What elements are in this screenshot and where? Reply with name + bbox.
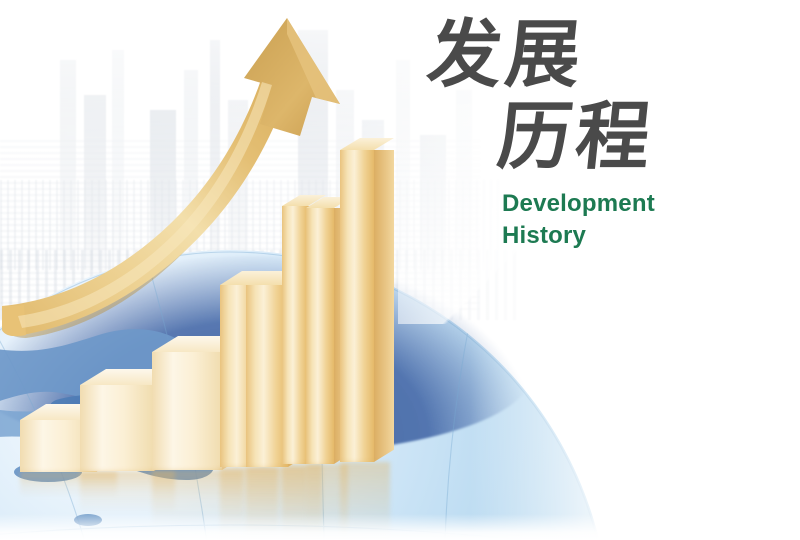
- title-en-line2: History: [502, 220, 750, 252]
- title-cn-line1: 发展: [424, 18, 754, 92]
- bar-2: [80, 385, 154, 471]
- bar-7: [306, 208, 334, 464]
- bar-8-reflection: [340, 462, 390, 540]
- banner-root: 发展 历程 Development History: [0, 0, 800, 540]
- bar-8-front-face: [340, 150, 374, 462]
- bar-8-side-face: [374, 150, 394, 462]
- bar-3-front-face: [152, 352, 222, 470]
- bar-3: [152, 352, 222, 470]
- bar-7-front-face: [306, 208, 334, 464]
- bar-2-front-face: [80, 385, 154, 471]
- title-en-line1: Development: [502, 188, 750, 220]
- bar-6-front-face: [282, 206, 308, 464]
- bar-6: [282, 206, 308, 464]
- title-cn-line2: 历程: [494, 100, 754, 174]
- title-block: 发展 历程 Development History: [420, 18, 750, 251]
- bar-8: [340, 150, 374, 462]
